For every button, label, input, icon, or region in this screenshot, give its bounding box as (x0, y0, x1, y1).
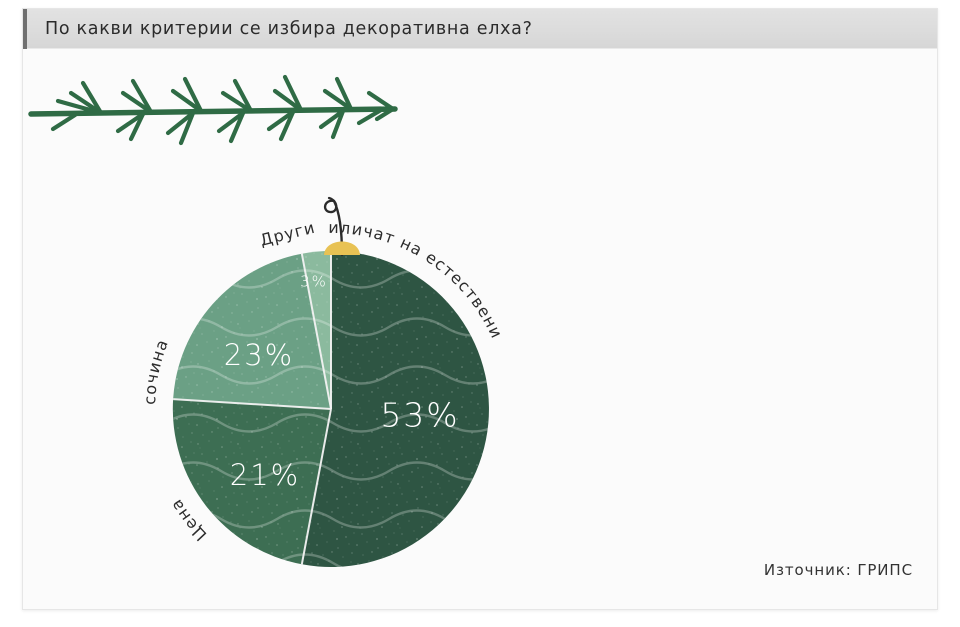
chart-card: По какви критерии се избира декоративна … (22, 8, 938, 610)
pie-value-other: 3% (300, 273, 328, 291)
pie-value-height: 23% (224, 338, 294, 372)
pie-chart: 53% 21% 23% 3% Да приличат на естествени… (115, 159, 575, 589)
pie-category-other: Други (258, 218, 317, 250)
pie-value-naturalness: 53% (380, 396, 459, 435)
page-title: По какви критерии се избира декоративна … (45, 9, 533, 49)
title-accent-bar (23, 9, 27, 49)
pie-category-height: Височина (115, 159, 172, 405)
source-label: Източник: ГРИПС (764, 561, 913, 579)
pie-chart-svg: 53% 21% 23% 3% Да приличат на естествени… (115, 159, 575, 589)
pie-value-price: 21% (230, 458, 300, 492)
card-title-bar: По какви критерии се избира декоративна … (23, 9, 937, 49)
chart-plot-area: 53% 21% 23% 3% Да приличат на естествени… (23, 49, 937, 610)
